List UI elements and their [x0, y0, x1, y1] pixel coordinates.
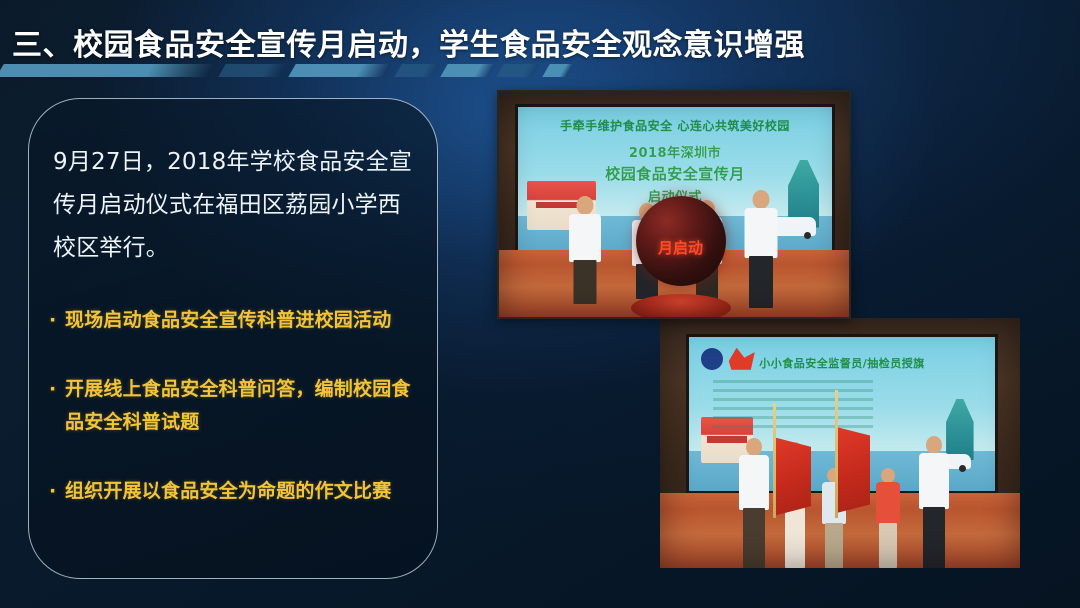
header-stripe-segment	[394, 64, 440, 77]
person-legs	[825, 523, 843, 568]
launch-ball: 月启动	[636, 196, 726, 286]
header-stripe-segment	[288, 64, 392, 77]
person-legs	[785, 504, 805, 568]
launch-ball-skirt	[631, 294, 731, 320]
header-stripe-segment	[0, 64, 216, 77]
person-figure	[876, 468, 900, 568]
lead-paragraph: 9月27日，2018年学校食品安全宣传月启动仪式在福田区荔园小学西校区举行。	[53, 141, 413, 270]
led-banner-line2: 2018年深圳市	[518, 142, 832, 161]
header-stripe-segment	[496, 64, 540, 77]
bullet-dot-icon: ·	[49, 304, 56, 337]
flag-pole	[835, 390, 838, 518]
header-stripe-segment	[440, 64, 496, 77]
header-stripe-band	[0, 64, 1080, 77]
person-head	[577, 196, 594, 215]
person-torso	[744, 208, 777, 258]
page-title: 三、校园食品安全宣传月启动，学生食品安全观念意识增强	[12, 20, 805, 64]
person-figure	[569, 196, 601, 304]
list-item-label: 现场启动食品安全宣传科普进校园活动	[65, 309, 391, 331]
header-stripe-segment	[542, 64, 574, 77]
person-legs	[574, 260, 597, 304]
flag-pole	[773, 403, 776, 518]
person-head	[881, 468, 895, 483]
ceremonial-flag	[775, 438, 811, 516]
launch-ceremony-photo: 手牵手维护食品安全 心连心共筑美好校园 2018年深圳市 校园食品安全宣传月 启…	[497, 90, 851, 319]
led-logo-badge	[701, 348, 723, 370]
person-torso	[919, 453, 949, 509]
bullet-dot-icon: ·	[49, 373, 56, 406]
person-torso	[739, 455, 769, 510]
launch-ball-text: 月启动	[636, 237, 726, 258]
flag-award-scene: 小小食品安全监督员/抽检员授旗	[660, 318, 1020, 568]
person-legs	[743, 508, 765, 568]
person-legs	[923, 507, 945, 568]
list-item-label: 开展线上食品安全科普问答，编制校园食品安全科普试题	[65, 378, 411, 433]
led-banner-line3: 校园食品安全宣传月	[518, 163, 832, 184]
person-head	[926, 436, 942, 454]
person-figure	[739, 438, 769, 568]
launch-ceremony-scene: 手牵手维护食品安全 心连心共筑美好校园 2018年深圳市 校园食品安全宣传月 启…	[499, 92, 849, 317]
person-torso	[569, 214, 601, 262]
list-item: · 开展线上食品安全科普问答，编制校园食品安全科普试题	[47, 373, 427, 439]
bullet-dot-icon: ·	[49, 475, 56, 508]
led-banner-headline: 手牵手维护食品安全 心连心共筑美好校园	[518, 117, 832, 134]
ceremonial-flag	[836, 427, 870, 513]
person-head	[752, 190, 769, 209]
flag-award-photo: 小小食品安全监督员/抽检员授旗	[660, 318, 1020, 568]
person-legs	[749, 256, 773, 308]
person-figure	[919, 436, 949, 568]
led-body-text-block	[713, 380, 872, 432]
person-figure	[744, 190, 777, 308]
slide-canvas: 三、校园食品安全宣传月启动，学生食品安全观念意识增强 9月27日，2018年学校…	[0, 0, 1080, 608]
person-torso	[876, 482, 900, 524]
bullet-list: · 现场启动食品安全宣传科普进校园活动 · 开展线上食品安全科普问答，编制校园食…	[47, 304, 427, 508]
person-head	[746, 438, 762, 456]
info-card: 9月27日，2018年学校食品安全宣传月启动仪式在福田区荔园小学西校区举行。 ·…	[28, 98, 438, 579]
person-legs	[879, 523, 897, 568]
header-stripe-segment	[218, 64, 288, 77]
list-item: · 现场启动食品安全宣传科普进校园活动	[47, 304, 427, 337]
list-item-label: 组织开展以食品安全为命题的作文比赛	[65, 480, 391, 502]
list-item: · 组织开展以食品安全为命题的作文比赛	[47, 475, 427, 508]
slide-header: 三、校园食品安全宣传月启动，学生食品安全观念意识增强	[0, 0, 1080, 78]
